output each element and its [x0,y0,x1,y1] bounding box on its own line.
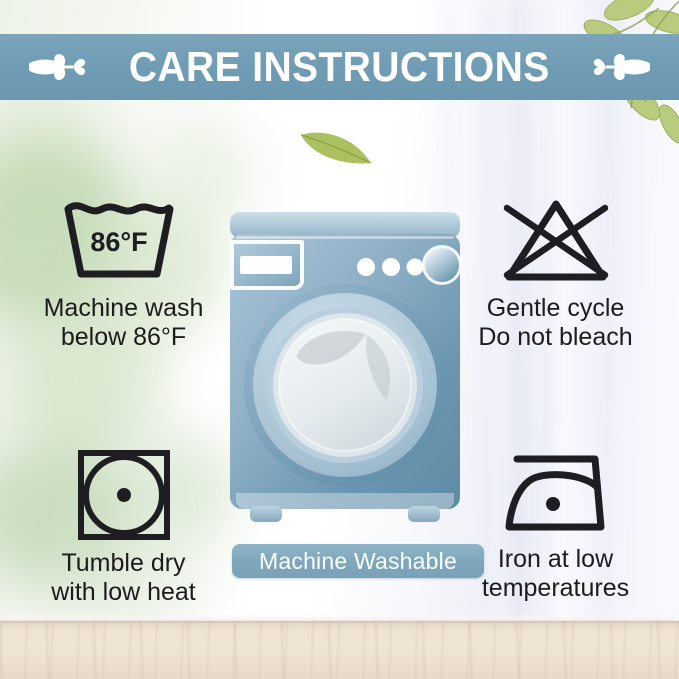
wooden-table-surface [0,621,679,679]
tumble-dry-low-icon [74,447,174,543]
care-caption-tumble-dry: Tumble dry with low heat [51,549,196,607]
crossed-triangle-icon [491,196,621,288]
care-caption-iron: Iron at low temperatures [482,545,629,603]
page-title: CARE INSTRUCTIONS [129,46,550,88]
fleur-de-lis-icon [29,44,91,90]
washing-machine-icon [226,208,464,538]
machine-washable-badge: Machine Washable [232,544,484,578]
care-item-tumble-dry: Tumble dry with low heat [16,447,231,607]
floating-leaf-icon [298,122,374,166]
care-item-machine-wash: 86°F Machine wash below 86°F [16,196,231,352]
care-item-iron: Iron at low temperatures [448,447,663,603]
machine-washable-label: Machine Washable [259,550,457,573]
care-item-do-not-bleach: Gentle cycle Do not bleach [448,196,663,352]
wash-tub-icon: 86°F [59,196,189,288]
care-instructions-infographic: CARE INSTRUCTIONS 86°F Machine wash belo… [0,0,679,679]
iron-one-dot-icon [495,447,617,539]
wash-temperature-label: 86°F [90,227,147,257]
care-caption-machine-wash: Machine wash below 86°F [44,294,204,352]
care-caption-do-not-bleach: Gentle cycle Do not bleach [478,294,632,352]
control-dots [357,258,424,276]
header-banner: CARE INSTRUCTIONS [0,34,679,100]
fleur-de-lis-icon [588,44,650,90]
